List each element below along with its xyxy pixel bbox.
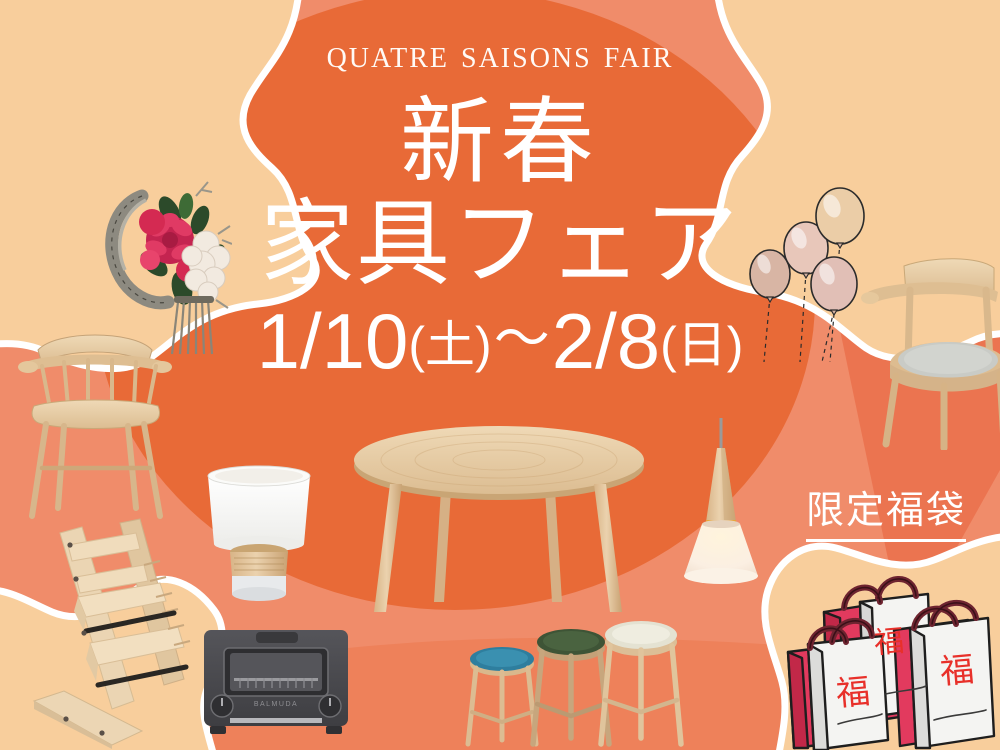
highchair-graphic (24, 505, 192, 750)
toaster-oven-graphic: BALMUDA (198, 618, 354, 746)
svg-text:BALMUDA: BALMUDA (254, 701, 298, 708)
dining-armchair-graphic (858, 254, 1000, 450)
fuku-character-front: 福 (835, 674, 872, 714)
lucky-bags-graphic: 福 福 福 (782, 556, 1000, 750)
stool-cream-graphic (596, 614, 686, 750)
table-lamp-graphic (194, 452, 324, 610)
windsor-armchair-graphic (16, 302, 174, 524)
pendant-lamp-graphic (676, 418, 766, 588)
fuku-character-right: 福 (939, 652, 976, 692)
promotional-banner: BALMUDA (0, 0, 1000, 750)
balloons-graphic (744, 184, 874, 364)
round-dining-table-graphic (348, 426, 650, 626)
fuku-character-back: 福 (873, 625, 906, 660)
limited-lucky-bag-label: 限定福袋 (806, 490, 966, 542)
